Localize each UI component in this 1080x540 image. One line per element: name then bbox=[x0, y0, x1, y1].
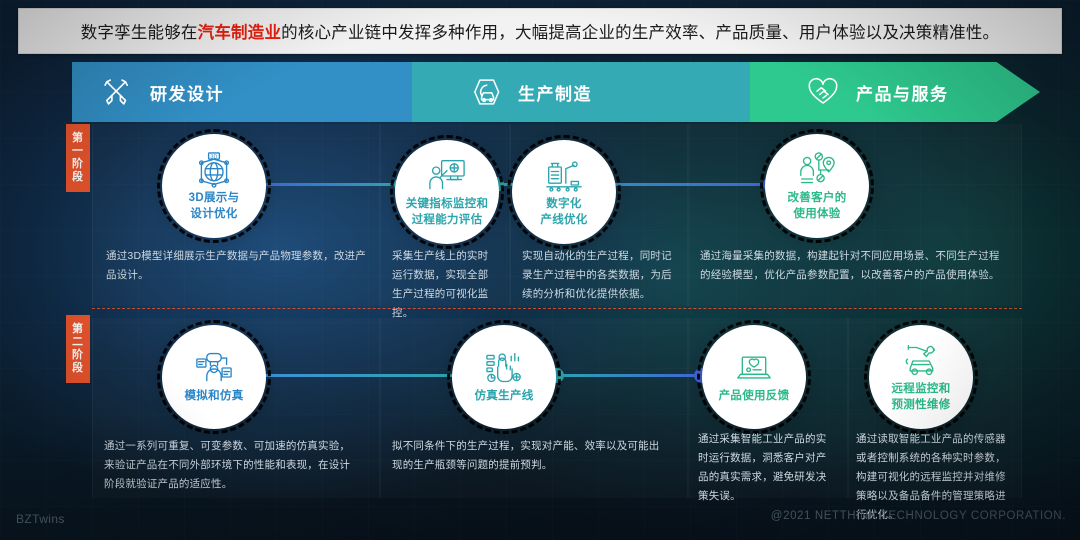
arrow-label: 研发设计 bbox=[150, 80, 224, 105]
connector-r2-1 bbox=[255, 374, 460, 377]
card-title-line2: 产线优化 bbox=[540, 213, 587, 227]
stage-divider bbox=[92, 308, 1022, 309]
card-title-line1: 改善客户的 bbox=[788, 191, 847, 205]
description-customer-experience: 通过海量采集的数据，构建起针对不同应用场景、不同生产过程的经验模型，优化产品参数… bbox=[700, 247, 1010, 285]
card-title-line2: 使用体验 bbox=[793, 207, 840, 221]
node-card-simulated-line[interactable]: 仿真生产线 bbox=[452, 325, 556, 429]
card-title-line1: 3D展示与 bbox=[189, 191, 240, 205]
card-title-line1: 远程监控和 bbox=[892, 382, 951, 396]
3d-model-globe-icon: 3D bbox=[194, 152, 234, 188]
description-simulated-line: 拟不同条件下的生产过程，实现对产能、效率以及可能出现的生产瓶颈等问题的提前预判。 bbox=[392, 437, 664, 475]
simulation-vr-icon bbox=[194, 350, 234, 386]
description-product-feedback: 通过采集智能工业产品的实时运行数据，洞悉客户对产品的真实需求，避免研发决策失误。 bbox=[698, 430, 834, 506]
car-wrench-maintenance-icon bbox=[901, 343, 941, 379]
card-title-line1: 模拟和仿真 bbox=[185, 389, 244, 403]
card-title-line1: 产品使用反馈 bbox=[719, 389, 790, 403]
arrow-label: 生产制造 bbox=[518, 80, 592, 105]
banner-highlight: 汽车制造业 bbox=[198, 24, 282, 42]
card-title-line2: 设计优化 bbox=[190, 207, 237, 221]
description-digital-line: 实现自动化的生产过程，同时记录生产过程中的各类数据，为后续的分析和优化提供依据。 bbox=[522, 247, 676, 304]
arrow-label: 产品与服务 bbox=[856, 80, 949, 105]
description-simulation: 通过一系列可重复、可变参数、可加速的仿真实验，来验证产品在不同外部环境下的性能和… bbox=[104, 437, 352, 494]
card-title-line1: 数字化 bbox=[546, 197, 581, 211]
stage-char: 第 bbox=[72, 132, 84, 145]
node-card-3d-display[interactable]: 3D 3D展示与 设计优化 bbox=[162, 134, 266, 238]
laptop-feedback-heart-icon bbox=[734, 350, 774, 386]
factory-robot-arm-icon bbox=[544, 158, 584, 194]
stage-tab-2: 第 二 阶 段 bbox=[66, 315, 90, 383]
stage-tab-1: 第 一 阶 段 bbox=[66, 124, 90, 192]
node-card-product-feedback[interactable]: 产品使用反馈 bbox=[702, 325, 806, 429]
banner-prefix: 数字孪生能够在 bbox=[81, 24, 198, 42]
card-disc: 仿真生产线 bbox=[452, 325, 556, 429]
phase-arrow-manufacturing[interactable]: 生产制造 bbox=[412, 62, 802, 122]
stage-char: 阶 bbox=[72, 158, 84, 171]
brand-label: BZTwins bbox=[16, 512, 65, 526]
card-disc: 模拟和仿真 bbox=[162, 325, 266, 429]
card-title-line1: 仿真生产线 bbox=[475, 389, 534, 403]
customer-location-icon bbox=[797, 152, 837, 188]
stage-char: 一 bbox=[72, 145, 84, 158]
banner-suffix: 的核心产业链中发挥多种作用，大幅提高企业的生产效率、产品质量、用户体验以及决策精… bbox=[281, 24, 999, 42]
phase-arrow-rd-design[interactable]: 研发设计 bbox=[72, 62, 464, 122]
node-card-customer-experience[interactable]: 改善客户的 使用体验 bbox=[765, 134, 869, 238]
stage-char: 阶 bbox=[72, 349, 84, 362]
phase-arrow-band: 研发设计 生产制造 产品与服 bbox=[72, 62, 1040, 122]
stage-char: 二 bbox=[72, 336, 84, 349]
node-card-remote-maintenance[interactable]: 远程监控和 预测性维修 bbox=[869, 325, 973, 429]
card-title-line2: 预测性维修 bbox=[892, 398, 951, 412]
stage-char: 段 bbox=[72, 362, 84, 375]
description-kpi-monitoring: 采集生产线上的实时运行数据，实现全部生产过程的可视化监控。 bbox=[392, 247, 498, 323]
node-card-kpi-monitoring[interactable]: 关键指标监控和 过程能力评估 bbox=[395, 140, 499, 244]
header-banner: 数字孪生能够在汽车制造业的核心产业链中发挥多种作用，大幅提高企业的生产效率、产品… bbox=[18, 8, 1062, 54]
card-disc: 远程监控和 预测性维修 bbox=[869, 325, 973, 429]
robot-hand-analytics-icon bbox=[484, 350, 524, 386]
card-disc: 3D 3D展示与 设计优化 bbox=[162, 134, 266, 238]
card-title-line1: 关键指标监控和 bbox=[406, 197, 489, 211]
node-card-digital-line[interactable]: 数字化 产线优化 bbox=[512, 140, 616, 244]
handshake-heart-icon bbox=[806, 75, 840, 109]
car-manufacturing-icon bbox=[468, 75, 502, 109]
card-title-line2: 过程能力评估 bbox=[412, 213, 483, 227]
card-disc: 产品使用反馈 bbox=[702, 325, 806, 429]
copyright-label: @2021 NETTHINK TECHNOLOGY CORPORATION. bbox=[771, 510, 1066, 522]
phase-arrow-product-service[interactable]: 产品与服务 bbox=[750, 62, 1040, 122]
banner-text: 数字孪生能够在汽车制造业的核心产业链中发挥多种作用，大幅提高企业的生产效率、产品… bbox=[81, 19, 1000, 43]
connector-r1-1 bbox=[255, 183, 400, 186]
stage-char: 段 bbox=[72, 171, 84, 184]
drafting-tools-icon bbox=[100, 75, 134, 109]
monitor-operator-icon bbox=[427, 158, 467, 194]
node-card-simulation[interactable]: 模拟和仿真 bbox=[162, 325, 266, 429]
connector-r2-2 bbox=[555, 374, 705, 377]
card-disc: 数字化 产线优化 bbox=[512, 140, 616, 244]
stage-char: 第 bbox=[72, 323, 84, 336]
card-disc: 改善客户的 使用体验 bbox=[765, 134, 869, 238]
description-3d-display: 通过3D模型详细展示生产数据与产品物理参数，改进产品设计。 bbox=[106, 247, 368, 285]
card-disc: 关键指标监控和 过程能力评估 bbox=[395, 140, 499, 244]
